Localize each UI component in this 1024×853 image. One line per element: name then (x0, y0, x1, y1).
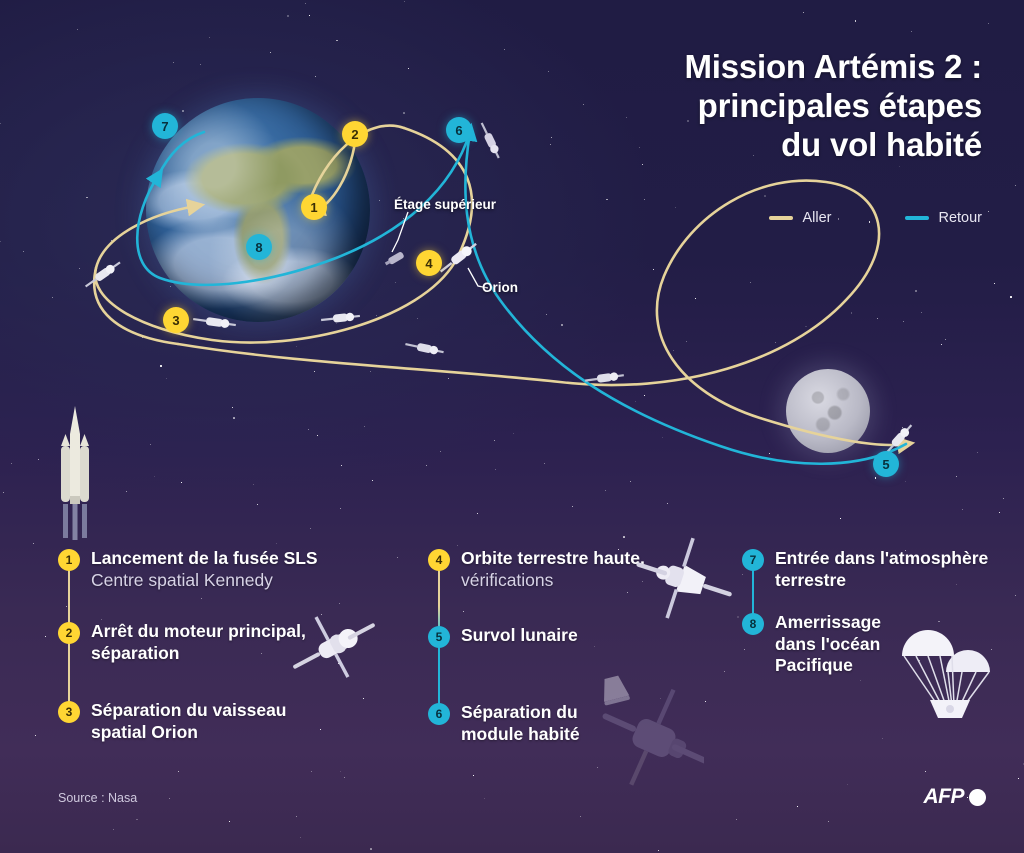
map-marker-3[interactable]: 3 (163, 307, 189, 333)
legend-swatch-outbound (769, 216, 793, 220)
splashdown-parachute-icon (896, 614, 1006, 724)
step-item-5[interactable]: 5 Survol lunaire (428, 625, 578, 648)
step-title-3: Séparation du vaisseau spatial Orion (91, 700, 287, 742)
step-text-1: Lancement de la fusée SLS Centre spatial… (91, 548, 318, 591)
step-title-2: Arrêt du moteur principal, séparation (91, 621, 306, 663)
step-item-3[interactable]: 3 Séparation du vaisseau spatial Orion (58, 700, 339, 743)
map-marker-2[interactable]: 2 (342, 121, 368, 147)
title-line-2: principales étapes (562, 87, 982, 126)
step-title-5: Survol lunaire (461, 625, 578, 645)
title-line-1: Mission Artémis 2 : (562, 48, 982, 87)
step-text-3: Séparation du vaisseau spatial Orion (91, 700, 339, 743)
step-title-8: Amerrissage dans l'océan Pacifique (775, 612, 881, 675)
step-item-1[interactable]: 1 Lancement de la fusée SLS Centre spati… (58, 548, 318, 591)
sls-rocket-icon (46, 404, 104, 540)
step-text-5: Survol lunaire (461, 625, 578, 647)
legend: Aller Retour (769, 210, 982, 226)
afp-logo: AFP (924, 785, 987, 809)
step-badge-8: 8 (742, 613, 764, 635)
step-title-1: Lancement de la fusée SLS (91, 548, 318, 568)
module-separation-icon (574, 662, 704, 788)
step-title-6: Séparation du module habité (461, 702, 580, 744)
afp-wordmark: AFP (924, 785, 965, 809)
map-marker-7[interactable]: 7 (152, 113, 178, 139)
page-title: Mission Artémis 2 : principales étapes d… (562, 48, 982, 165)
step-sub-1: Centre spatial Kennedy (91, 570, 318, 592)
map-marker-6[interactable]: 6 (446, 117, 472, 143)
legend-item-outbound: Aller (769, 210, 831, 226)
legend-label-outbound: Aller (802, 210, 831, 226)
step-item-4[interactable]: 4 Orbite terrestre haute, vérifications (428, 548, 671, 591)
map-marker-1[interactable]: 1 (301, 194, 327, 220)
step-inline-4: vérifications (461, 570, 553, 590)
artemis-infographic: 1 2 3 4 5 6 7 8 Étage supérieur Orion Mi… (0, 0, 1024, 853)
map-marker-5[interactable]: 5 (873, 451, 899, 477)
map-marker-4[interactable]: 4 (416, 250, 442, 276)
title-line-3: du vol habité (562, 126, 982, 165)
step-badge-6: 6 (428, 703, 450, 725)
orion-spacecraft-icon (636, 534, 736, 630)
label-upper-stage: Étage supérieur (394, 197, 496, 212)
step-badge-4: 4 (428, 549, 450, 571)
step-badge-5: 5 (428, 626, 450, 648)
step-badge-7: 7 (742, 549, 764, 571)
legend-swatch-inbound (905, 216, 929, 220)
step-text-7: Entrée dans l'atmosphère terrestre (775, 548, 1007, 591)
step-title-7: Entrée dans l'atmosphère terrestre (775, 548, 988, 590)
step-item-7[interactable]: 7 Entrée dans l'atmosphère terrestre (742, 548, 1007, 591)
separation-spacecraft-icon (288, 608, 380, 686)
map-marker-8[interactable]: 8 (246, 234, 272, 260)
legend-item-inbound: Retour (905, 210, 982, 226)
step-title-4: Orbite terrestre haute, (461, 548, 645, 568)
step-badge-3: 3 (58, 701, 80, 723)
source-credit: Source : Nasa (58, 791, 137, 805)
step-badge-2: 2 (58, 622, 80, 644)
step-badge-1: 1 (58, 549, 80, 571)
afp-dot-icon (969, 789, 986, 806)
label-orion: Orion (482, 280, 518, 295)
steps-section: 1 Lancement de la fusée SLS Centre spati… (0, 540, 1024, 780)
legend-label-inbound: Retour (938, 210, 982, 226)
